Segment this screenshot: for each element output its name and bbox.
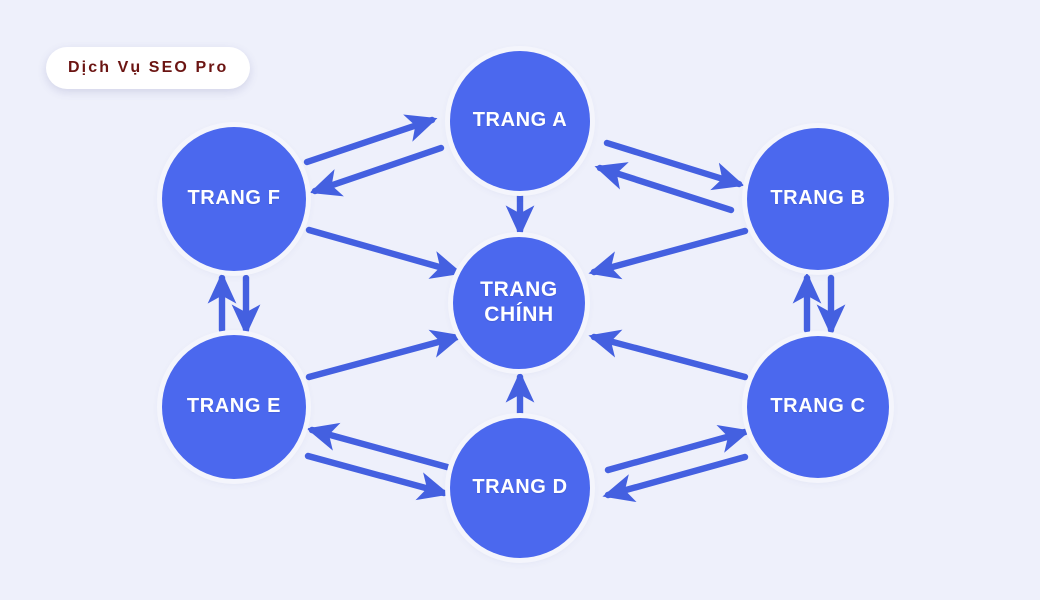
- node-label-trang-a: TRANG A: [473, 109, 568, 133]
- node-label-trang-e: TRANG E: [187, 395, 281, 419]
- node-trang-d[interactable]: TRANG D: [450, 418, 590, 558]
- node-label-trang-c: TRANG C: [770, 395, 865, 419]
- diagram-canvas: TRANG A TRANG B TRANG C TRANG D TRANG E …: [0, 0, 1040, 600]
- node-trang-b[interactable]: TRANG B: [747, 128, 889, 270]
- node-trang-e[interactable]: TRANG E: [162, 335, 306, 479]
- node-label-trang-b: TRANG B: [770, 187, 865, 211]
- watermark-badge-label: Dịch Vụ SEO Pro: [68, 59, 228, 77]
- node-label-trang-f: TRANG F: [187, 187, 280, 211]
- arrow-f-to-center: [309, 230, 457, 272]
- arrow-c-to-center: [594, 337, 745, 377]
- node-label-trang-chinh: TRANGCHÍNH: [480, 278, 558, 328]
- node-label-trang-d: TRANG D: [472, 476, 567, 500]
- node-trang-f[interactable]: TRANG F: [162, 127, 306, 271]
- node-trang-c[interactable]: TRANG C: [747, 336, 889, 478]
- arrow-b-to-center: [594, 231, 745, 272]
- arrow-e-to-center: [309, 337, 457, 377]
- node-trang-chinh[interactable]: TRANGCHÍNH: [453, 237, 585, 369]
- watermark-badge: Dịch Vụ SEO Pro: [46, 47, 250, 89]
- node-trang-a[interactable]: TRANG A: [450, 51, 590, 191]
